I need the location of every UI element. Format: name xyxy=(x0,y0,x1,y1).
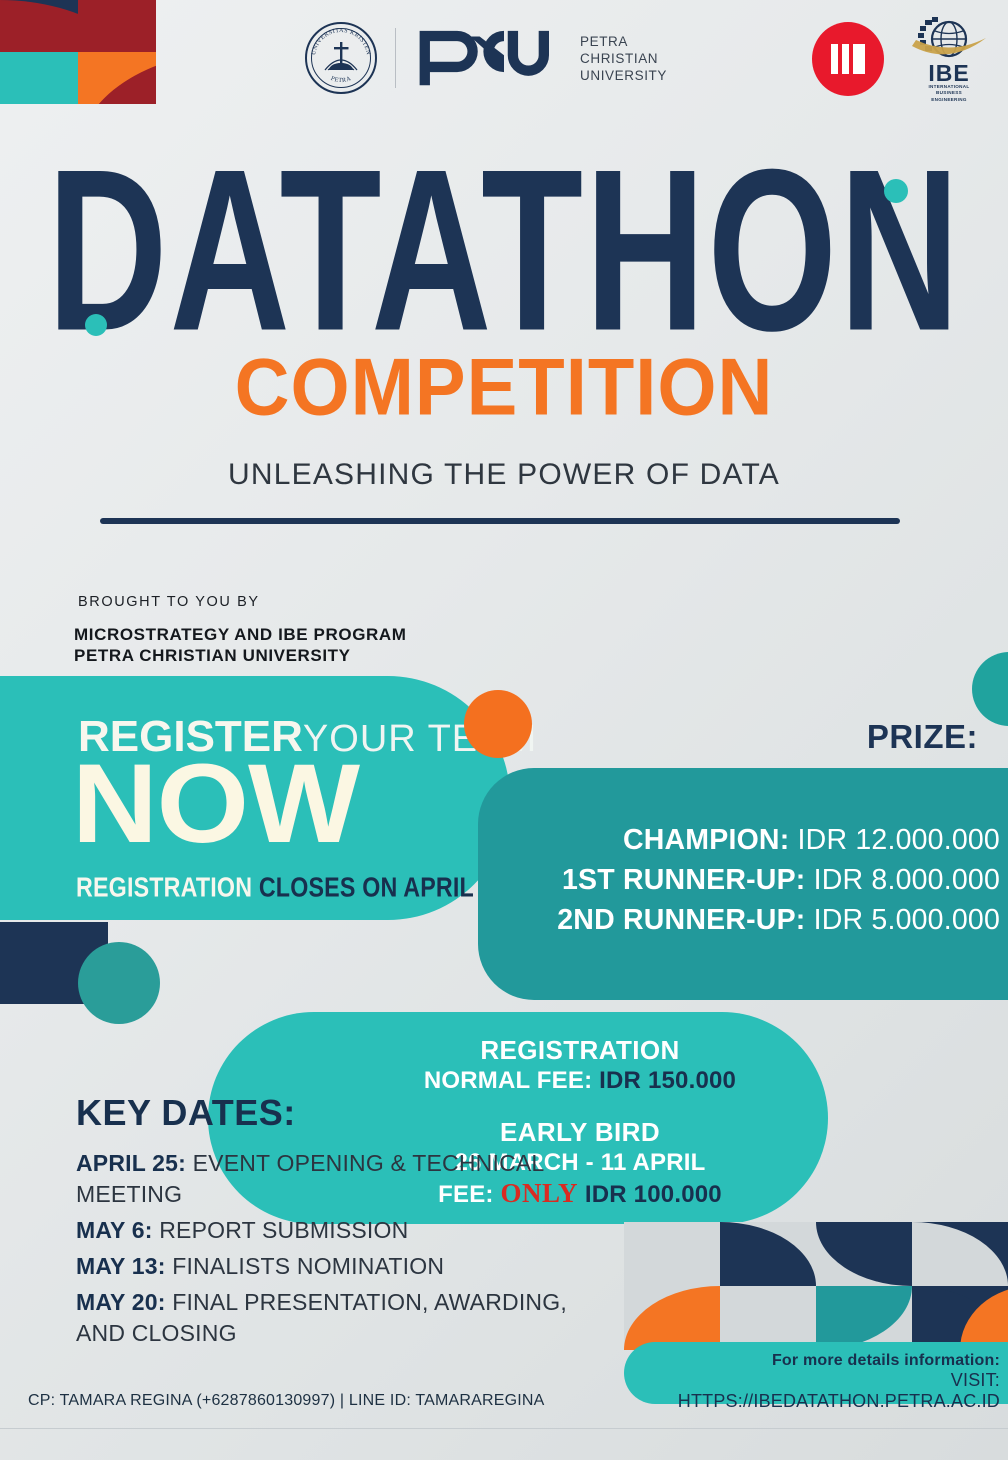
microstrategy-bars xyxy=(831,44,865,74)
teal-circle-right-decor xyxy=(972,652,1008,726)
pcu-word-line-2: CHRISTIAN xyxy=(580,50,667,67)
key-date-date: APRIL 25: xyxy=(76,1150,186,1176)
prize-amount: IDR 8.000.000 xyxy=(814,864,1000,896)
normal-fee-row: NORMAL FEE: IDR 150.000 xyxy=(400,1066,760,1096)
br-cell-3 xyxy=(816,1222,912,1286)
key-date-row: MAY 13: FINALISTS NOMINATION xyxy=(76,1251,596,1282)
br-shape-7 xyxy=(816,1286,912,1350)
br-shape-2 xyxy=(720,1222,816,1286)
pcu-word-line-3: UNIVERSITY xyxy=(580,67,667,84)
microstrategy-logo-icon xyxy=(812,22,884,96)
seal-emblem-icon xyxy=(317,34,365,82)
ibe-logo: IBE INTERNATIONAL BUSINESS ENGINEERING xyxy=(906,16,992,104)
prize-place: 2ND RUNNER-UP: xyxy=(557,904,805,936)
br-shape-4 xyxy=(912,1222,1008,1286)
bottom-right-geometric-decor xyxy=(624,1222,1008,1350)
more-details-text: For more details information: VISIT: HTT… xyxy=(640,1352,1000,1412)
key-date-text: REPORT SUBMISSION xyxy=(153,1217,409,1243)
br-shape-1 xyxy=(624,1222,720,1286)
registration-heading: REGISTRATION xyxy=(400,1034,760,1066)
key-date-date: MAY 13: xyxy=(76,1253,166,1279)
key-date-date: MAY 20: xyxy=(76,1289,166,1315)
cross-bridge-icon xyxy=(320,37,362,79)
br-cell-7 xyxy=(816,1286,912,1350)
normal-fee-amount: IDR 150.000 xyxy=(599,1067,736,1094)
teal-dot-right-icon xyxy=(884,179,908,203)
teal-circle-left-decor xyxy=(78,942,160,1024)
prize-amount: IDR 5.000.000 xyxy=(814,904,1000,936)
deadline-prefix: REGISTRATION xyxy=(76,872,259,903)
prize-row: 1ST RUNNER-UP: IDR 8.000.000 xyxy=(488,860,1000,900)
prize-place: 1ST RUNNER-UP: xyxy=(562,864,805,896)
key-dates-title: KEY DATES: xyxy=(76,1092,296,1134)
header-logo-bar: UNIVERSITAS KRISTEN PETRA xyxy=(0,0,1008,116)
br-shape-9 xyxy=(960,1286,1008,1350)
br-cell-6 xyxy=(720,1286,816,1350)
prize-label: PRIZE: xyxy=(0,718,978,756)
footer-divider xyxy=(0,1428,1008,1429)
logo-divider xyxy=(395,28,396,88)
pcu-word-line-1: PETRA xyxy=(580,33,667,50)
early-fee-amount: IDR 100.000 xyxy=(578,1181,722,1208)
petra-seal-icon: UNIVERSITAS KRISTEN PETRA xyxy=(305,22,377,94)
organizer-line-1: MICROSTRATEGY AND IBE PROGRAM xyxy=(74,624,407,645)
tagline: UNLEASHING THE POWER OF DATA xyxy=(0,458,1008,492)
organizer-line-2: PETRA CHRISTIAN UNIVERSITY xyxy=(74,645,407,666)
br-shape-3 xyxy=(816,1222,912,1286)
title-block: DATATHON xyxy=(0,150,1008,300)
registration-deadline: REGISTRATION CLOSES ON APRIL 21ST xyxy=(76,872,513,904)
br-cell-5 xyxy=(624,1286,720,1350)
organizer-names: MICROSTRATEGY AND IBE PROGRAM PETRA CHRI… xyxy=(74,624,407,666)
early-bird-heading: EARLY BIRD xyxy=(400,1116,760,1148)
pcu-wordmark: PETRA CHRISTIAN UNIVERSITY xyxy=(580,33,667,84)
pcu-logo-group: UNIVERSITAS KRISTEN PETRA xyxy=(305,22,667,94)
key-date-row: APRIL 25: EVENT OPENING & TECHNICAL MEET… xyxy=(76,1148,596,1210)
website-url[interactable]: VISIT: HTTPS://IBEDATATHON.PETRA.AC.ID xyxy=(640,1370,1000,1412)
teal-dot-left-icon xyxy=(85,314,107,336)
subtitle: COMPETITION xyxy=(0,346,1008,431)
title-divider xyxy=(100,518,900,524)
page-title: DATATHON xyxy=(47,150,961,351)
prize-row: 2ND RUNNER-UP: IDR 5.000.000 xyxy=(488,900,1000,940)
more-details-label: For more details information: xyxy=(640,1352,1000,1370)
prize-list: CHAMPION: IDR 12.000.000 1ST RUNNER-UP: … xyxy=(488,820,1000,940)
ibe-globe-gear-icon xyxy=(906,16,992,62)
prize-place: CHAMPION: xyxy=(623,824,789,856)
prize-row: CHAMPION: IDR 12.000.000 xyxy=(488,820,1000,860)
key-date-text: FINALISTS NOMINATION xyxy=(166,1253,445,1279)
br-cell-9 xyxy=(960,1286,1008,1350)
key-date-row: MAY 20: FINAL PRESENTATION, AWARDING, AN… xyxy=(76,1287,596,1349)
key-date-date: MAY 6: xyxy=(76,1217,153,1243)
contact-info: CP: TAMARA REGINA (+6287860130997) | LIN… xyxy=(28,1392,545,1410)
br-shape-6 xyxy=(720,1286,816,1350)
ibe-abbr-text: IBE xyxy=(906,60,992,87)
pcu-monogram-icon xyxy=(414,27,564,89)
br-cell-4 xyxy=(912,1222,1008,1286)
br-cell-2 xyxy=(720,1222,816,1286)
br-shape-5 xyxy=(624,1286,720,1350)
ibe-full-line-3: ENGINEERING xyxy=(906,97,992,103)
brought-by-label: BROUGHT TO YOU BY xyxy=(78,594,260,610)
key-date-row: MAY 6: REPORT SUBMISSION xyxy=(76,1215,596,1246)
br-cell-1 xyxy=(624,1222,720,1286)
ibe-full-name: INTERNATIONAL BUSINESS ENGINEERING xyxy=(906,84,992,103)
prize-amount: IDR 12.000.000 xyxy=(798,824,1000,856)
normal-fee-label: NORMAL FEE: xyxy=(424,1067,599,1094)
poster-canvas: UNIVERSITAS KRISTEN PETRA xyxy=(0,0,1008,1460)
key-dates-list: APRIL 25: EVENT OPENING & TECHNICAL MEET… xyxy=(76,1148,596,1354)
